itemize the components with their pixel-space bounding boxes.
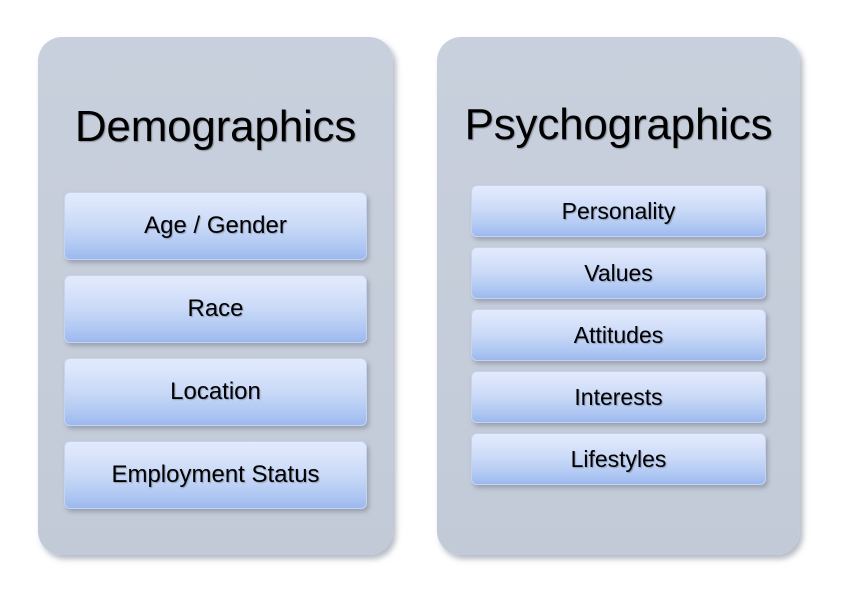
item-chip-label: Race [187,295,243,323]
panel-psychographics: Psychographics Personality Values Attitu… [437,37,800,555]
item-chip-race[interactable]: Race [64,275,367,343]
panel-title-psychographics: Psychographics [465,103,773,147]
item-chip-attitudes[interactable]: Attitudes [471,309,766,361]
item-chip-label: Age / Gender [144,212,287,240]
diagram-canvas: Demographics Age / Gender Race Location … [0,0,850,600]
item-chip-label: Interests [574,384,662,411]
item-chip-personality[interactable]: Personality [471,185,766,237]
item-list-demographics: Age / Gender Race Location Employment St… [38,192,393,509]
item-chip-label: Attitudes [574,322,664,349]
item-chip-label: Lifestyles [571,446,667,473]
item-chip-label: Location [170,378,261,406]
item-chip-interests[interactable]: Interests [471,371,766,423]
item-chip-lifestyles[interactable]: Lifestyles [471,433,766,485]
item-chip-label: Employment Status [111,461,319,489]
item-list-psychographics: Personality Values Attitudes Interests L… [437,185,800,485]
item-chip-location[interactable]: Location [64,358,367,426]
item-chip-age-gender[interactable]: Age / Gender [64,192,367,260]
panel-demographics: Demographics Age / Gender Race Location … [38,37,393,555]
item-chip-label: Values [584,260,653,287]
panel-title-demographics: Demographics [75,105,356,149]
item-chip-values[interactable]: Values [471,247,766,299]
item-chip-employment-status[interactable]: Employment Status [64,441,367,509]
item-chip-label: Personality [562,198,676,225]
